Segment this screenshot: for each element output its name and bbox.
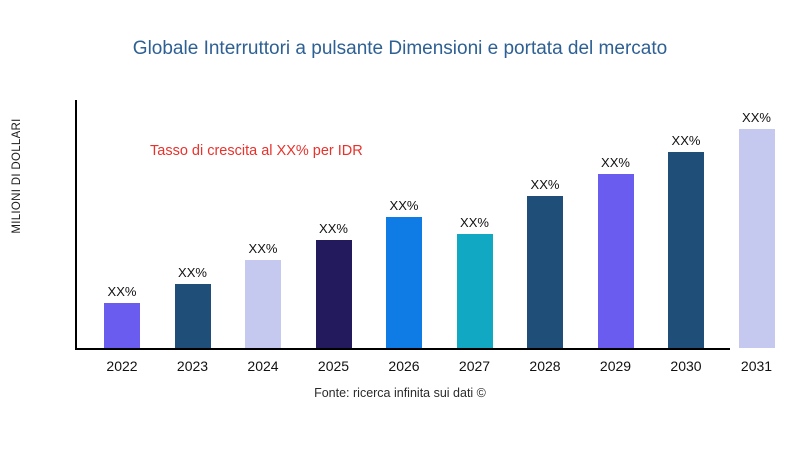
bar-value-label-2028: XX% (510, 177, 580, 192)
page-title: Globale Interruttori a pulsante Dimensio… (0, 38, 800, 60)
bar-value-label-2029: XX% (581, 155, 651, 170)
bar-2024[interactable] (245, 260, 281, 348)
x-tick-2026: 2026 (369, 358, 439, 374)
bar-2022[interactable] (104, 303, 140, 348)
x-axis-line (75, 348, 730, 350)
bar-2027[interactable] (457, 234, 493, 348)
source-note: Fonte: ricerca infinita sui dati © (0, 386, 800, 400)
bar-value-label-2026: XX% (369, 198, 439, 213)
x-tick-2029: 2029 (581, 358, 651, 374)
bar-2026[interactable] (386, 217, 422, 348)
x-tick-2027: 2027 (440, 358, 510, 374)
bar-value-label-2025: XX% (299, 221, 369, 236)
bar-value-label-2022: XX% (87, 284, 157, 299)
x-tick-2030: 2030 (651, 358, 721, 374)
bar-2030[interactable] (668, 152, 704, 348)
bar-2029[interactable] (598, 174, 634, 348)
bar-value-label-2031: XX% (722, 110, 792, 125)
growth-rate-annotation: Tasso di crescita al XX% per IDR (150, 143, 363, 159)
bar-2025[interactable] (316, 240, 352, 348)
y-axis-line (75, 100, 77, 350)
bar-value-label-2030: XX% (651, 133, 721, 148)
y-axis-label: MILIONI DI DOLLARI (11, 96, 23, 256)
x-tick-2025: 2025 (299, 358, 369, 374)
x-tick-2028: 2028 (510, 358, 580, 374)
bar-2031[interactable] (739, 129, 775, 348)
bar-2028[interactable] (527, 196, 563, 348)
bar-value-label-2024: XX% (228, 241, 298, 256)
bar-2023[interactable] (175, 284, 211, 348)
bar-value-label-2023: XX% (158, 265, 228, 280)
x-tick-2024: 2024 (228, 358, 298, 374)
x-tick-2031: 2031 (722, 358, 792, 374)
x-tick-2022: 2022 (87, 358, 157, 374)
chart-page: Globale Interruttori a pulsante Dimensio… (0, 0, 800, 450)
plot-area: XX%XX%XX%XX%XX%XX%XX%XX%XX%XX% 202220232… (75, 100, 780, 350)
bar-value-label-2027: XX% (440, 215, 510, 230)
x-tick-2023: 2023 (158, 358, 228, 374)
